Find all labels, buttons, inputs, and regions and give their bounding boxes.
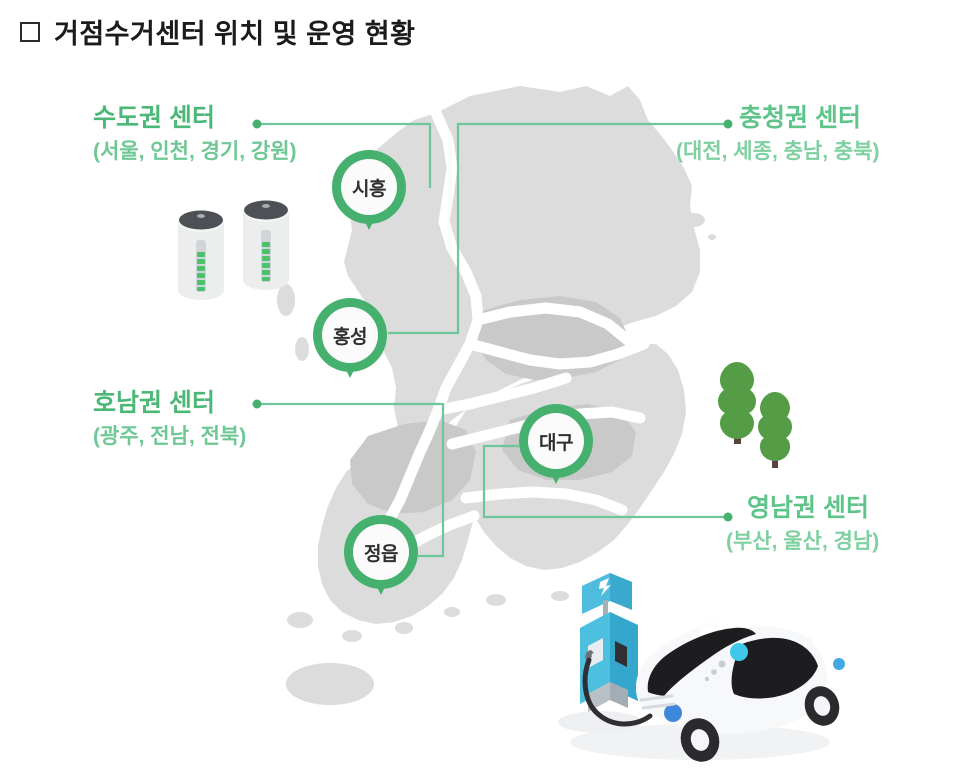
jeju-island	[286, 663, 374, 705]
dot-chungcheong	[724, 120, 733, 129]
south-islet-5	[486, 594, 506, 606]
south-islet-2	[342, 630, 362, 642]
dot-honam	[253, 400, 262, 409]
region-sub-chungcheong: (대전, 세종, 충남, 충북)	[676, 138, 880, 165]
pin-label-daegu: 대구	[539, 428, 573, 455]
region-label-yeongnam: 영남권 센터 (부산, 울산, 경남)	[747, 494, 879, 555]
region-sub-yeongnam: (부산, 울산, 경남)	[726, 528, 879, 555]
pin-label-siheung: 시흥	[352, 174, 386, 201]
region-sub-sudogwon: (서울, 인천, 경기, 강원)	[93, 138, 297, 165]
headlight	[664, 704, 682, 722]
region-title-chungcheong: 충청권 센터	[739, 104, 880, 133]
battery-left-icon	[178, 211, 224, 301]
pin-label-hongseong: 홍성	[333, 322, 367, 349]
south-islet-6	[551, 591, 569, 601]
pin-inner: 정읍	[353, 524, 409, 580]
west-islet-2	[295, 337, 309, 361]
pin-inner: 홍성	[322, 307, 378, 363]
map-pin-siheung[interactable]: 시흥	[332, 150, 406, 224]
west-islet-1	[277, 284, 295, 316]
south-islet-4	[444, 607, 460, 617]
south-islet-1	[287, 612, 313, 628]
map-pin-daegu[interactable]: 대구	[519, 404, 593, 478]
map-pin-jeongeup[interactable]: 정읍	[344, 515, 418, 589]
tree-pair-illustration	[718, 362, 792, 468]
region-label-chungcheong: 충청권 센터 (대전, 세종, 충남, 충북)	[739, 104, 880, 165]
infographic-page: 거점수거센터 위치 및 운영 현황	[0, 0, 955, 775]
region-title-yeongnam: 영남권 센터	[747, 494, 879, 523]
battery-right-icon	[243, 201, 289, 291]
tree-small-icon	[758, 392, 792, 468]
ulleungdo-island	[681, 213, 705, 227]
region-title-honam: 호남권 센터	[93, 389, 246, 418]
roof-light	[730, 643, 748, 661]
pin-label-jeongeup: 정읍	[364, 539, 398, 566]
pin-inner: 시흥	[341, 159, 397, 215]
battery-pair-illustration	[178, 201, 289, 301]
south-islet-3	[395, 622, 413, 634]
dokdo-island	[708, 234, 716, 240]
dot-yeongnam	[724, 513, 733, 522]
tail-light	[833, 658, 845, 670]
tree-large-icon	[718, 362, 756, 444]
map-pin-hongseong[interactable]: 홍성	[313, 298, 387, 372]
region-label-sudogwon: 수도권 센터 (서울, 인천, 경기, 강원)	[93, 104, 297, 165]
region-sub-honam: (광주, 전남, 전북)	[93, 423, 246, 450]
pin-inner: 대구	[528, 413, 584, 469]
ev-charging-illustration	[558, 573, 845, 775]
region-title-sudogwon: 수도권 센터	[93, 104, 297, 133]
region-label-honam: 호남권 센터 (광주, 전남, 전북)	[93, 389, 246, 450]
